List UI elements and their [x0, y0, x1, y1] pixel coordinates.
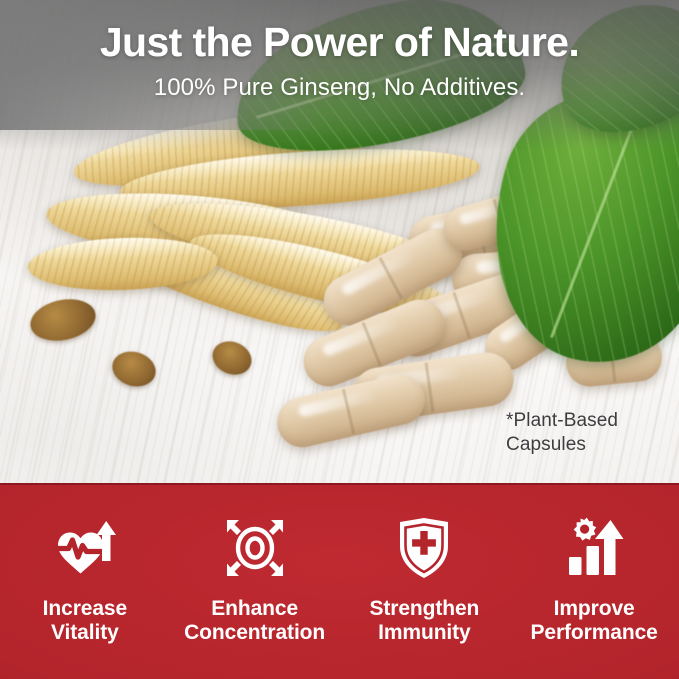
benefit-item-strengthen-immunity: Strengthen Immunity	[340, 485, 510, 679]
product-marketing-image: Just the Power of Nature. 100% Pure Gins…	[0, 0, 679, 679]
gear-bar-chart-arrow-icon	[559, 515, 629, 581]
benefit-label: Improve Performance	[530, 597, 657, 646]
focus-target-icon	[220, 515, 290, 581]
benefit-label-line-2: Immunity	[369, 621, 479, 645]
caption-line-2: Capsules	[506, 433, 618, 457]
benefit-label-line-2: Concentration	[184, 621, 325, 645]
plant-based-caption: *Plant-Based Capsules	[506, 409, 618, 458]
benefit-item-improve-performance: Improve Performance	[509, 485, 679, 679]
benefit-label-line-1: Increase	[43, 597, 127, 621]
benefit-label-line-1: Strengthen	[369, 597, 479, 621]
page-title: Just the Power of Nature.	[0, 21, 679, 64]
heart-pulse-arrow-icon	[50, 515, 120, 581]
benefit-label-line-1: Enhance	[184, 597, 325, 621]
benefit-item-enhance-concentration: Enhance Concentration	[170, 485, 340, 679]
benefit-label-line-2: Vitality	[43, 621, 127, 645]
shield-cross-icon	[389, 515, 459, 581]
benefit-label: Enhance Concentration	[184, 597, 325, 646]
subtitle: 100% Pure Ginseng, No Additives.	[0, 74, 679, 102]
benefit-label: Strengthen Immunity	[369, 597, 479, 646]
caption-line-1: *Plant-Based	[506, 409, 618, 433]
benefit-label-line-2: Performance	[530, 621, 657, 645]
benefit-label: Increase Vitality	[43, 597, 127, 646]
benefit-label-line-1: Improve	[530, 597, 657, 621]
benefit-item-increase-vitality: Increase Vitality	[0, 485, 170, 679]
benefits-banner: Increase Vitality	[0, 483, 679, 679]
